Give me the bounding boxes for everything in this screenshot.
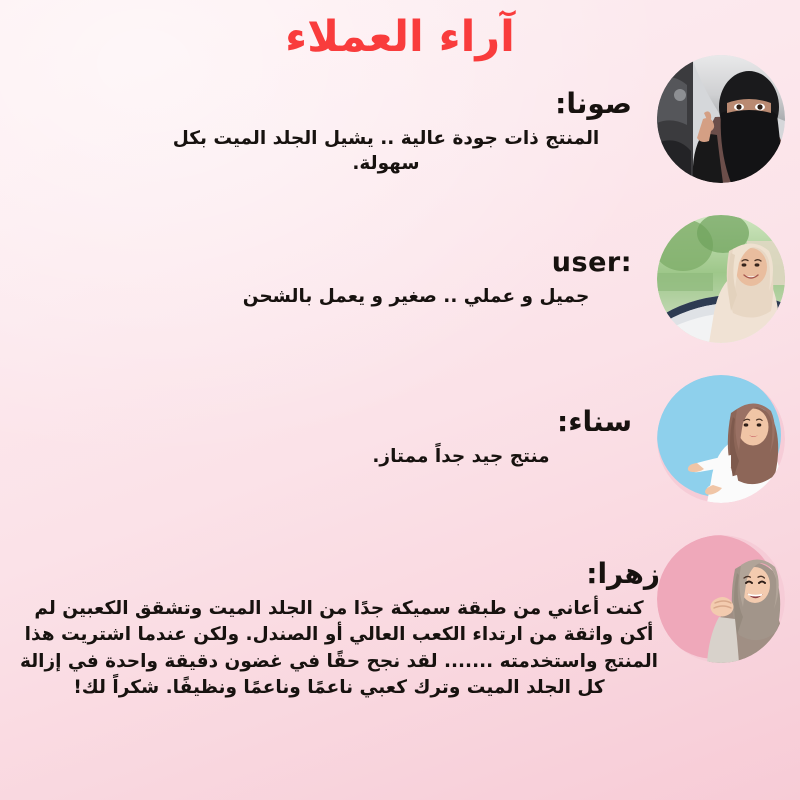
reviewer-name: زهرا: xyxy=(18,558,660,590)
testimonial-content: سناء: منتج جيد جداً ممتاز. xyxy=(290,406,632,470)
reviewer-name: صونا: xyxy=(140,88,632,120)
page-title-container: آراء العملاء xyxy=(0,14,800,61)
testimonial-content: صونا: المنتج ذات جودة عالية .. يشيل الجل… xyxy=(140,88,632,177)
avatar-photo-niqab-thumbs-up xyxy=(657,55,785,183)
reviewer-quote: المنتج ذات جودة عالية .. يشيل الجلد المي… xyxy=(140,127,632,177)
reviewer-quote: منتج جيد جداً ممتاز. xyxy=(290,445,632,470)
avatar-photo-hijab-beside-car xyxy=(657,215,785,343)
avatar-photo-hijab-presenting-blue-bg xyxy=(657,375,785,503)
avatar xyxy=(657,215,785,343)
testimonial-content: زهرا: كنت أعاني من طبقة سميكة جدًا من ال… xyxy=(18,558,660,701)
reviewer-quote: كنت أعاني من طبقة سميكة جدًا من الجلد ال… xyxy=(18,596,660,701)
testimonial-content: user: جميل و عملي .. صغير و يعمل بالشحن xyxy=(200,247,632,310)
page-title: آراء العملاء xyxy=(0,14,800,61)
avatar xyxy=(657,375,785,503)
reviewer-name: سناء: xyxy=(290,406,632,438)
reviewer-name: user: xyxy=(200,247,632,278)
avatar-photo-hijab-fist-raised-pink-bg xyxy=(657,535,785,663)
avatar xyxy=(657,55,785,183)
reviews-page: آراء العملاء xyxy=(0,0,800,800)
reviewer-quote: جميل و عملي .. صغير و يعمل بالشحن xyxy=(200,285,632,310)
avatar xyxy=(657,535,785,663)
